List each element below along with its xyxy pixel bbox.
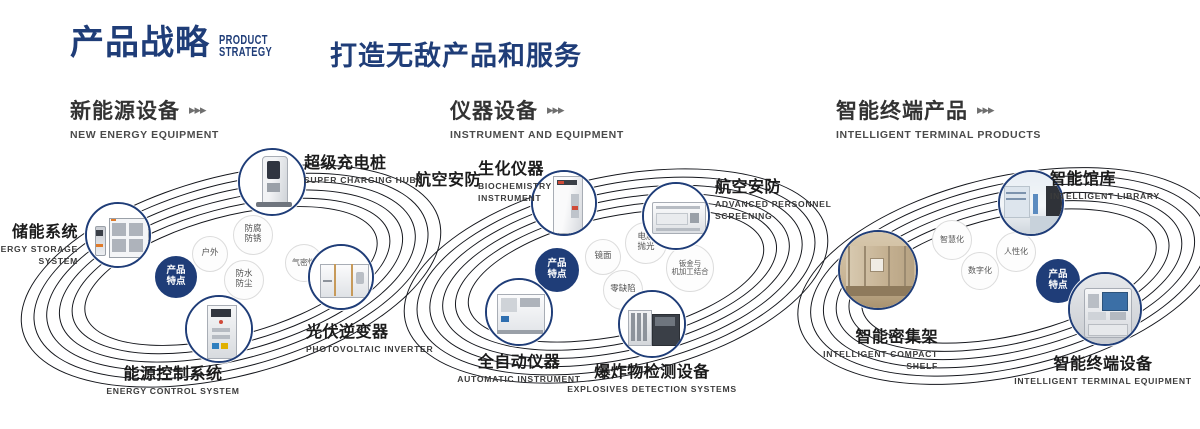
feature-bubble: 钣金与 机加工结合 bbox=[666, 244, 714, 292]
section-title-cn: 新能源设备 bbox=[70, 95, 180, 125]
product-node-energy-control-system[interactable] bbox=[185, 295, 253, 363]
chevron-right-icon: ▸▸▸ bbox=[189, 102, 206, 118]
feature-label: 镜面 bbox=[594, 251, 611, 261]
feature-label-2: 机加工结合 bbox=[672, 267, 709, 276]
caption-en-line1: EXPLOSIVES DETECTION SYSTEMS bbox=[560, 384, 744, 394]
caption-cn: 生化仪器 bbox=[478, 155, 552, 179]
caption-energy-control-system: 能源控制系统 ENERGY CONTROL SYSTEM bbox=[80, 360, 266, 396]
caption-intelligent-compact-shelf: 智能密集架 INTELLIGENT COMPACT SHELF bbox=[808, 323, 938, 371]
page-title-en: PRODUCT STRATEGY bbox=[219, 34, 272, 58]
feature-label-2: 防锈 bbox=[244, 234, 261, 244]
section-heading-intelligent-terminal: 智能终端产品 ▸▸▸ INTELLIGENT TERMINAL PRODUCTS bbox=[836, 95, 1041, 141]
feature-label: 数字化 bbox=[968, 266, 992, 275]
caption-cn: 爆炸物检测设备 bbox=[560, 358, 744, 382]
caption-advanced-personnel-screening: 航空安防 ADVANCED PERSONNEL SCREENING bbox=[715, 173, 832, 221]
section-title-cn: 仪器设备 bbox=[450, 95, 538, 125]
product-photo bbox=[1070, 274, 1140, 344]
caption-energy-storage: 储能系统 ENERGY STORAGE SYSTEM bbox=[0, 218, 78, 266]
section-title-en: INSTRUMENT AND EQUIPMENT bbox=[450, 129, 624, 141]
caption-biochemistry-instrument: 生化仪器 BIOCHEMISTRY INSTRUMENT bbox=[478, 155, 552, 203]
chevron-right-icon: ▸▸▸ bbox=[977, 102, 994, 118]
feature-bubble: 智慧化 bbox=[932, 220, 972, 260]
section-title-en: NEW ENERGY EQUIPMENT bbox=[70, 129, 219, 141]
caption-en-line1: INTELLIGENT LIBRARY bbox=[1050, 191, 1160, 201]
caption-cn: 储能系统 bbox=[0, 218, 78, 242]
product-photo bbox=[87, 204, 149, 266]
feature-label: 人性化 bbox=[1004, 247, 1028, 256]
cluster-instrument: 产品 特点 镜面 电解 抛光 钣金与 机加工结合 零缺陷 bbox=[425, 160, 805, 390]
feature-label: 防腐 bbox=[244, 224, 261, 234]
cluster-new-energy: 产品 特点 户外 防腐 防锈 气密性 防水 防尘 bbox=[40, 160, 420, 390]
caption-cn: 智能密集架 bbox=[808, 323, 938, 347]
page-title-cn: 产品战略 bbox=[70, 26, 210, 60]
page-title: 产品战略 PRODUCT STRATEGY bbox=[70, 26, 293, 60]
feature-label-2: 防尘 bbox=[235, 279, 252, 289]
caption-en-line2: SCREENING bbox=[715, 211, 832, 221]
feature-label: 户外 bbox=[201, 248, 218, 258]
caption-aviation-security-left: 航空安防 bbox=[395, 166, 481, 190]
section-heading-instrument: 仪器设备 ▸▸▸ INSTRUMENT AND EQUIPMENT bbox=[450, 95, 624, 141]
feature-bubble: 镜面 bbox=[585, 239, 621, 275]
caption-en-line1: BIOCHEMISTRY bbox=[478, 181, 552, 191]
product-node-super-charging-hub[interactable] bbox=[238, 148, 306, 216]
caption-en-line1: ENERGY CONTROL SYSTEM bbox=[80, 386, 266, 396]
core-label-line1: 产品 bbox=[547, 258, 566, 269]
product-node-intelligent-compact-shelf[interactable] bbox=[838, 230, 918, 310]
caption-en-line1: INTELLIGENT COMPACT bbox=[808, 349, 938, 359]
product-node-intelligent-terminal-equipment[interactable] bbox=[1068, 272, 1142, 346]
chevron-right-icon: ▸▸▸ bbox=[547, 102, 564, 118]
product-photo bbox=[187, 297, 251, 361]
feature-bubble: 防水 防尘 bbox=[224, 260, 264, 300]
caption-intelligent-library: 智能馆库 INTELLIGENT LIBRARY bbox=[1050, 165, 1160, 201]
product-photo bbox=[310, 246, 372, 308]
product-node-advanced-personnel-screening[interactable] bbox=[642, 182, 710, 250]
caption-en-line1: INTELLIGENT TERMINAL EQUIPMENT bbox=[1008, 376, 1198, 386]
product-node-photovoltaic-inverter[interactable] bbox=[308, 244, 374, 310]
caption-cn: 航空安防 bbox=[715, 173, 832, 197]
caption-en-line1: ADVANCED PERSONNEL bbox=[715, 199, 832, 209]
caption-cn: 智能馆库 bbox=[1050, 165, 1160, 189]
feature-label: 防水 bbox=[235, 269, 252, 279]
product-node-energy-storage[interactable] bbox=[85, 202, 151, 268]
caption-cn: 航空安防 bbox=[395, 166, 481, 190]
core-label-line2: 特点 bbox=[547, 269, 566, 280]
feature-bubble: 人性化 bbox=[996, 232, 1036, 272]
core-label-line2: 特点 bbox=[1048, 280, 1067, 291]
product-node-automatic-instrument[interactable] bbox=[485, 278, 553, 346]
caption-cn: 能源控制系统 bbox=[80, 360, 266, 384]
product-node-explosives-detection[interactable] bbox=[618, 290, 686, 358]
caption-en-line1: ENERGY STORAGE bbox=[0, 244, 78, 254]
caption-en-line1: PHOTOVOLTAIC INVERTER bbox=[306, 344, 433, 354]
product-photo bbox=[840, 232, 916, 308]
infographic-page: 产品战略 PRODUCT STRATEGY 打造无敌产品和服务 新能源设备 ▸▸… bbox=[0, 0, 1200, 422]
core-label-line1: 产品 bbox=[166, 265, 185, 276]
product-photo bbox=[644, 184, 708, 248]
caption-en-line2: SYSTEM bbox=[0, 256, 78, 266]
feature-bubble: 防腐 防锈 bbox=[233, 215, 273, 255]
product-photo bbox=[620, 292, 684, 356]
product-photo bbox=[487, 280, 551, 344]
page-title-en-line2: STRATEGY bbox=[219, 44, 272, 59]
core-label-line2: 特点 bbox=[166, 276, 185, 287]
feature-bubble: 户外 bbox=[192, 236, 228, 272]
caption-en-line2: SHELF bbox=[808, 361, 938, 371]
page-subtitle: 打造无敌产品和服务 bbox=[330, 34, 582, 73]
caption-intelligent-terminal-equipment: 智能终端设备 INTELLIGENT TERMINAL EQUIPMENT bbox=[1008, 350, 1198, 386]
caption-cn: 智能终端设备 bbox=[1008, 350, 1198, 374]
section-heading-new-energy: 新能源设备 ▸▸▸ NEW ENERGY EQUIPMENT bbox=[70, 95, 219, 141]
feature-bubble: 数字化 bbox=[961, 252, 999, 290]
cluster-intelligent-terminal: 智慧化 人性化 数字化 产品 特点 bbox=[818, 160, 1198, 390]
core-label-line1: 产品 bbox=[1048, 269, 1067, 280]
section-title-cn: 智能终端产品 bbox=[836, 95, 968, 125]
caption-explosives-detection: 爆炸物检测设备 EXPLOSIVES DETECTION SYSTEMS bbox=[560, 358, 744, 394]
feature-label: 智慧化 bbox=[940, 235, 964, 244]
product-photo bbox=[240, 150, 304, 214]
caption-en-line2: INSTRUMENT bbox=[478, 193, 552, 203]
feature-bubble-core: 产品 特点 bbox=[155, 256, 197, 298]
section-title-en: INTELLIGENT TERMINAL PRODUCTS bbox=[836, 129, 1041, 141]
